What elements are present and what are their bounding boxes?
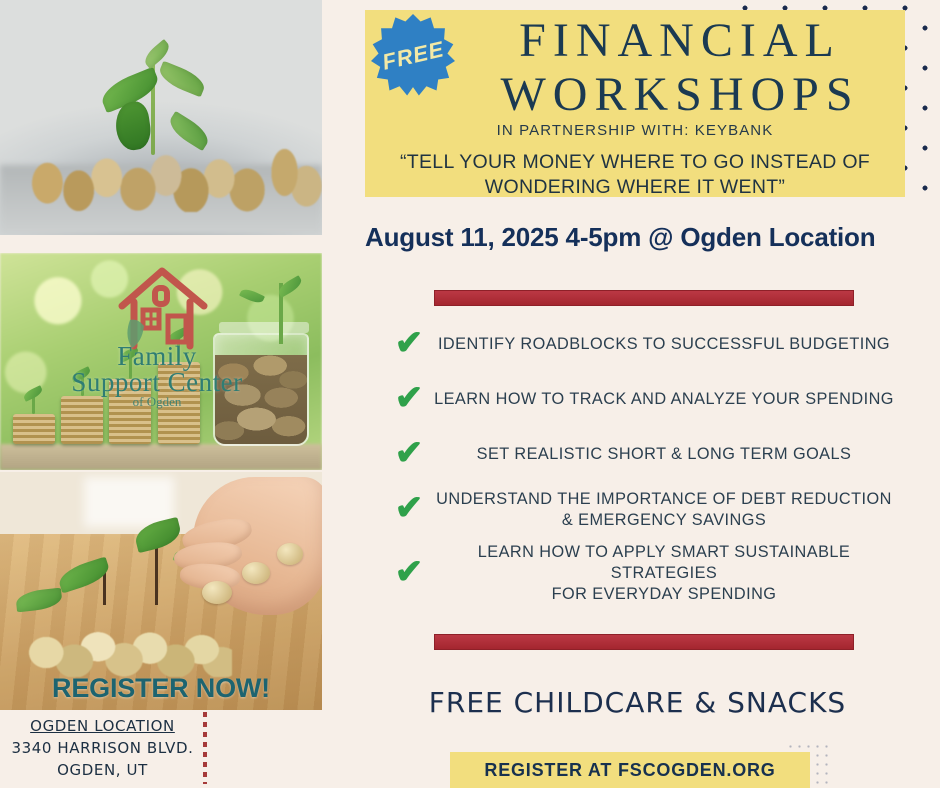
list-item: ✔ UNDERSTAND THE IMPORTANCE OF DEBT REDU…: [386, 487, 906, 533]
title-line-2: WORKSHOPS: [461, 70, 899, 120]
divider-bar-top: [434, 290, 854, 306]
location-city-state: OGDEN, UT: [0, 760, 205, 782]
location-block: OGDEN LOCATION 3340 HARRISON BLVD. OGDEN…: [0, 716, 205, 781]
jar-lip: [219, 322, 309, 333]
list-item-label: SET REALISTIC SHORT & LONG TERM GOALS: [432, 444, 906, 465]
check-icon: ✔: [386, 491, 432, 525]
list-item: ✔ LEARN HOW TO TRACK AND ANALYZE YOUR SP…: [386, 377, 906, 423]
benefits-list: ✔ IDENTIFY ROADBLOCKS TO SUCCESSFUL BUDG…: [386, 322, 906, 615]
list-item-label: LEARN HOW TO APPLY SMART SUSTAINABLE STR…: [432, 542, 906, 606]
list-item-label: UNDERSTAND THE IMPORTANCE OF DEBT REDUCT…: [432, 489, 906, 531]
plant-stem: [155, 543, 158, 605]
quote-line-2: WONDERING WHERE IT WENT”: [383, 175, 887, 200]
vertical-dotted-divider: [203, 712, 207, 784]
list-item: ✔ LEARN HOW TO APPLY SMART SUSTAINABLE S…: [386, 542, 906, 606]
register-cta-box[interactable]: REGISTER AT FSCOGDEN.ORG: [450, 752, 810, 788]
free-badge: FREE: [371, 14, 455, 98]
photo-surface: [0, 444, 322, 470]
window-light: [84, 477, 174, 527]
check-icon: ✔: [386, 555, 432, 589]
photo-hand-dropping-coins: REGISTER NOW!: [0, 472, 322, 710]
coin-stack: [61, 396, 103, 444]
check-icon: ✔: [386, 326, 432, 360]
coin-jar: [213, 333, 310, 446]
coin-pile: [10, 136, 322, 211]
list-item: ✔ SET REALISTIC SHORT & LONG TERM GOALS: [386, 432, 906, 478]
childcare-note: FREE CHILDCARE & SNACKS: [365, 686, 910, 719]
coin-pile: [16, 605, 232, 676]
free-badge-label: FREE: [380, 36, 447, 75]
list-item: ✔ IDENTIFY ROADBLOCKS TO SUCCESSFUL BUDG…: [386, 322, 906, 368]
location-heading: OGDEN LOCATION: [0, 716, 205, 738]
location-street: 3340 HARRISON BLVD.: [0, 738, 205, 760]
photo-coin-stacks-and-jar: Family Support Center of Ogden: [0, 253, 322, 470]
coin-stack: [158, 362, 200, 444]
register-cta-label: REGISTER AT FSCOGDEN.ORG: [484, 760, 775, 781]
coin: [277, 543, 303, 565]
photo-seedling-on-coin-pile: [0, 0, 322, 235]
register-now-overlay: REGISTER NOW!: [0, 673, 322, 704]
divider-bar-bottom: [434, 634, 854, 650]
tagline-quote: “TELL YOUR MONEY WHERE TO GO INSTEAD OF …: [383, 150, 887, 200]
coin-stack: [13, 414, 55, 444]
partnership-line: IN PARTNERSHIP WITH: KEYBANK: [365, 122, 905, 139]
check-icon: ✔: [386, 381, 432, 415]
financial-workshops-flyer: Family Support Center of Ogden: [0, 0, 940, 788]
page-title: FINANCIAL WORKSHOPS: [461, 16, 899, 121]
list-item-label: IDENTIFY ROADBLOCKS TO SUCCESSFUL BUDGET…: [432, 334, 906, 355]
header-banner: FREE FINANCIAL WORKSHOPS IN PARTNERSHIP …: [365, 10, 905, 197]
event-date-line: August 11, 2025 4-5pm @ Ogden Location: [365, 222, 925, 253]
coin-stack: [109, 379, 151, 444]
jar-coins: [215, 355, 308, 444]
list-item-label: LEARN HOW TO TRACK AND ANALYZE YOUR SPEN…: [432, 389, 906, 410]
quote-line-1: “TELL YOUR MONEY WHERE TO GO INSTEAD OF: [383, 150, 887, 175]
title-line-1: FINANCIAL: [461, 16, 899, 66]
photo-column: Family Support Center of Ogden: [0, 0, 322, 710]
check-icon: ✔: [386, 436, 432, 470]
